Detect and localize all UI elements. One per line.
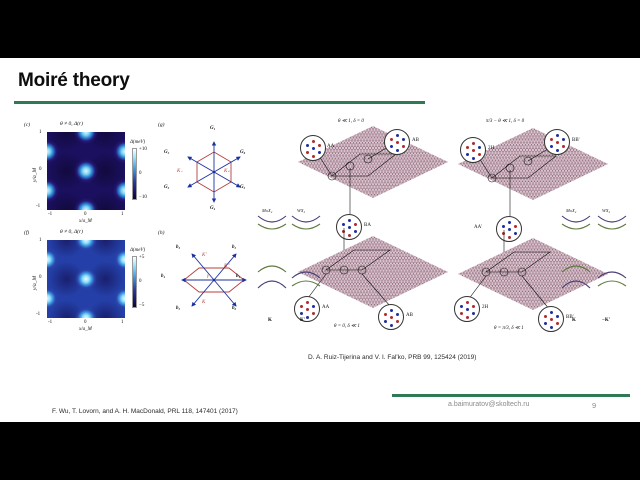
band-diagram-group-right bbox=[560, 198, 630, 328]
rt-left-inset-label-ab-2: AB bbox=[406, 313, 413, 318]
panel-f-xtick-left: -1 bbox=[48, 320, 52, 325]
rt-right-inset-label-2h: 2H bbox=[488, 146, 494, 151]
rt-right-inset-label-bbprime: BB' bbox=[572, 138, 580, 143]
panel-f-ytick-bot: -1 bbox=[36, 312, 40, 317]
panel-g-tag: (g) bbox=[158, 122, 164, 128]
panel-f-heading: θ ≠ 0, Δ(r) bbox=[60, 229, 83, 235]
screenshot-viewport: Moiré theory (c) θ ≠ 0, Δ(r) 1 0 -1 y/a_… bbox=[0, 0, 640, 480]
panel-g-point-label-kminus: K₋ bbox=[177, 168, 183, 174]
valley-label-kprime-left: K' bbox=[300, 318, 305, 323]
valley-label-k-right: K bbox=[572, 318, 576, 323]
panel-c-ytick-bot: -1 bbox=[36, 204, 40, 209]
panel-f-ytick-top: 1 bbox=[39, 238, 42, 243]
rt-left-inset-ab bbox=[384, 129, 410, 155]
panel-h-reciprocal-lattice-diagram bbox=[168, 234, 260, 326]
panel-c-xlabel: x/a_M bbox=[79, 219, 92, 224]
footer-email: a.baimuratov@skoltech.ru bbox=[448, 401, 529, 408]
panel-f-xlabel: x/a_M bbox=[79, 327, 92, 332]
rt-right-inset-2h-2 bbox=[454, 296, 480, 322]
panel-f-colorbar bbox=[132, 256, 137, 308]
panel-c-tag: (c) bbox=[24, 122, 30, 128]
panel-f-colorbar-tick-mid: 0 bbox=[139, 279, 142, 284]
panel-c-colorbar bbox=[132, 148, 137, 200]
valley-label-k-left: K bbox=[268, 318, 272, 323]
footer-page-number: 9 bbox=[592, 401, 596, 410]
panel-h-vector-label-b4: b₄ bbox=[161, 274, 165, 279]
panel-h-vector-label-b1: b₁ bbox=[236, 274, 240, 279]
panel-f-colorbar-tick-max: +5 bbox=[139, 255, 144, 260]
panel-c-ytick-top: 1 bbox=[39, 130, 42, 135]
panel-g-vector-label-g2: G₂ bbox=[164, 150, 169, 155]
valley-label-minus-kprime-right: −K' bbox=[602, 318, 610, 323]
panel-f-heatmap bbox=[47, 240, 125, 318]
rt-right-inset-2h bbox=[460, 137, 486, 163]
panel-f-xtick-mid: 0 bbox=[84, 320, 87, 325]
band-diagram-group-left bbox=[256, 198, 324, 328]
panel-g-vector-label-g1: G₁ bbox=[210, 126, 215, 131]
panel-c-heatmap bbox=[47, 132, 125, 210]
panel-c-colorbar-tick-min: −10 bbox=[139, 195, 147, 200]
band-label-mox2-right: MoX₂ bbox=[566, 208, 576, 213]
panel-c-xtick-mid: 0 bbox=[84, 212, 87, 217]
panel-h-vector-label-b6: b₆ bbox=[232, 306, 236, 311]
panel-c-heading: θ ≠ 0, Δ(r) bbox=[60, 121, 83, 127]
panel-f-tag: (f) bbox=[24, 230, 29, 236]
rt-right-bottom-condition: θ = π/3, δ ≪ 1 bbox=[494, 325, 524, 331]
rt-right-inset-label-2h-2: 2H bbox=[482, 305, 488, 310]
panel-h-vector-label-b5: b₅ bbox=[176, 306, 180, 311]
left-figure-caption: F. Wu, T. Lovorn, and A. H. MacDonald, P… bbox=[52, 408, 238, 415]
page-title: Moiré theory bbox=[18, 70, 130, 92]
panel-c-xtick-right: 1 bbox=[121, 212, 124, 217]
panel-h-point-label-kprime: K' bbox=[202, 253, 206, 258]
panel-g-vector-label-g5: G₅ bbox=[240, 185, 245, 190]
panel-f-colorbar-title: Δ(meV) bbox=[130, 248, 145, 253]
panel-h-point-label-k: K bbox=[202, 300, 205, 305]
panel-f-ytick-mid: 0 bbox=[39, 275, 42, 280]
left-figure-wu: (c) θ ≠ 0, Δ(r) 1 0 -1 y/a_M -1 0 1 x/a_… bbox=[22, 120, 290, 340]
panel-h-vector-label-b2: b₂ bbox=[232, 245, 236, 250]
panel-h-vector-label-b3: b₃ bbox=[176, 245, 180, 250]
slide-canvas: Moiré theory (c) θ ≠ 0, Δ(r) 1 0 -1 y/a_… bbox=[0, 58, 640, 422]
letterbox-bottom bbox=[0, 422, 640, 480]
panel-g-point-label-kplus: K₊ bbox=[224, 168, 230, 174]
panel-f-ylabel: y/a_M bbox=[32, 276, 38, 290]
band-label-wx2-left: WX₂ bbox=[297, 208, 305, 213]
panel-g-vector-label-g6: G₆ bbox=[240, 150, 245, 155]
letterbox-top bbox=[0, 0, 640, 58]
rt-left-inset-label-aa: AA bbox=[327, 144, 334, 149]
footer-rule bbox=[392, 394, 630, 397]
panel-g-vector-label-g3: G₃ bbox=[164, 185, 169, 190]
band-label-mox2-left: MoX₂ bbox=[262, 208, 272, 213]
panel-c-colorbar-title: Δ(meV) bbox=[130, 140, 145, 145]
panel-g-vector-label-g4: G₄ bbox=[210, 206, 215, 211]
panel-c-ytick-mid: 0 bbox=[39, 167, 42, 172]
panel-h-tag: (h) bbox=[158, 230, 164, 236]
rt-left-inset-ab-2 bbox=[378, 304, 404, 330]
panel-c-colorbar-tick-mid: 0 bbox=[139, 171, 142, 176]
panel-c-xtick-left: -1 bbox=[48, 212, 52, 217]
panel-h-point-label-kdoubleprime: K'' bbox=[224, 264, 229, 269]
panel-f-colorbar-tick-min: −5 bbox=[139, 303, 144, 308]
rt-left-inset-label-ab: AB bbox=[412, 138, 419, 143]
band-label-wx2-right: WX₂ bbox=[602, 208, 610, 213]
rt-left-inset-aa bbox=[300, 135, 326, 161]
rt-right-inset-bbprime bbox=[544, 129, 570, 155]
panel-c-ylabel: y/a_M bbox=[32, 168, 38, 182]
right-figure-caption: D. A. Ruiz-Tijerina and V. I. Fal'ko, PR… bbox=[308, 354, 476, 361]
panel-f-xtick-right: 1 bbox=[121, 320, 124, 325]
panel-h-point-label-gamma: γ bbox=[207, 274, 209, 279]
panel-c-colorbar-tick-max: +10 bbox=[139, 147, 147, 152]
title-underline-rule bbox=[14, 101, 425, 104]
rt-left-bottom-condition: θ = 0, δ ≪ 1 bbox=[334, 323, 360, 329]
